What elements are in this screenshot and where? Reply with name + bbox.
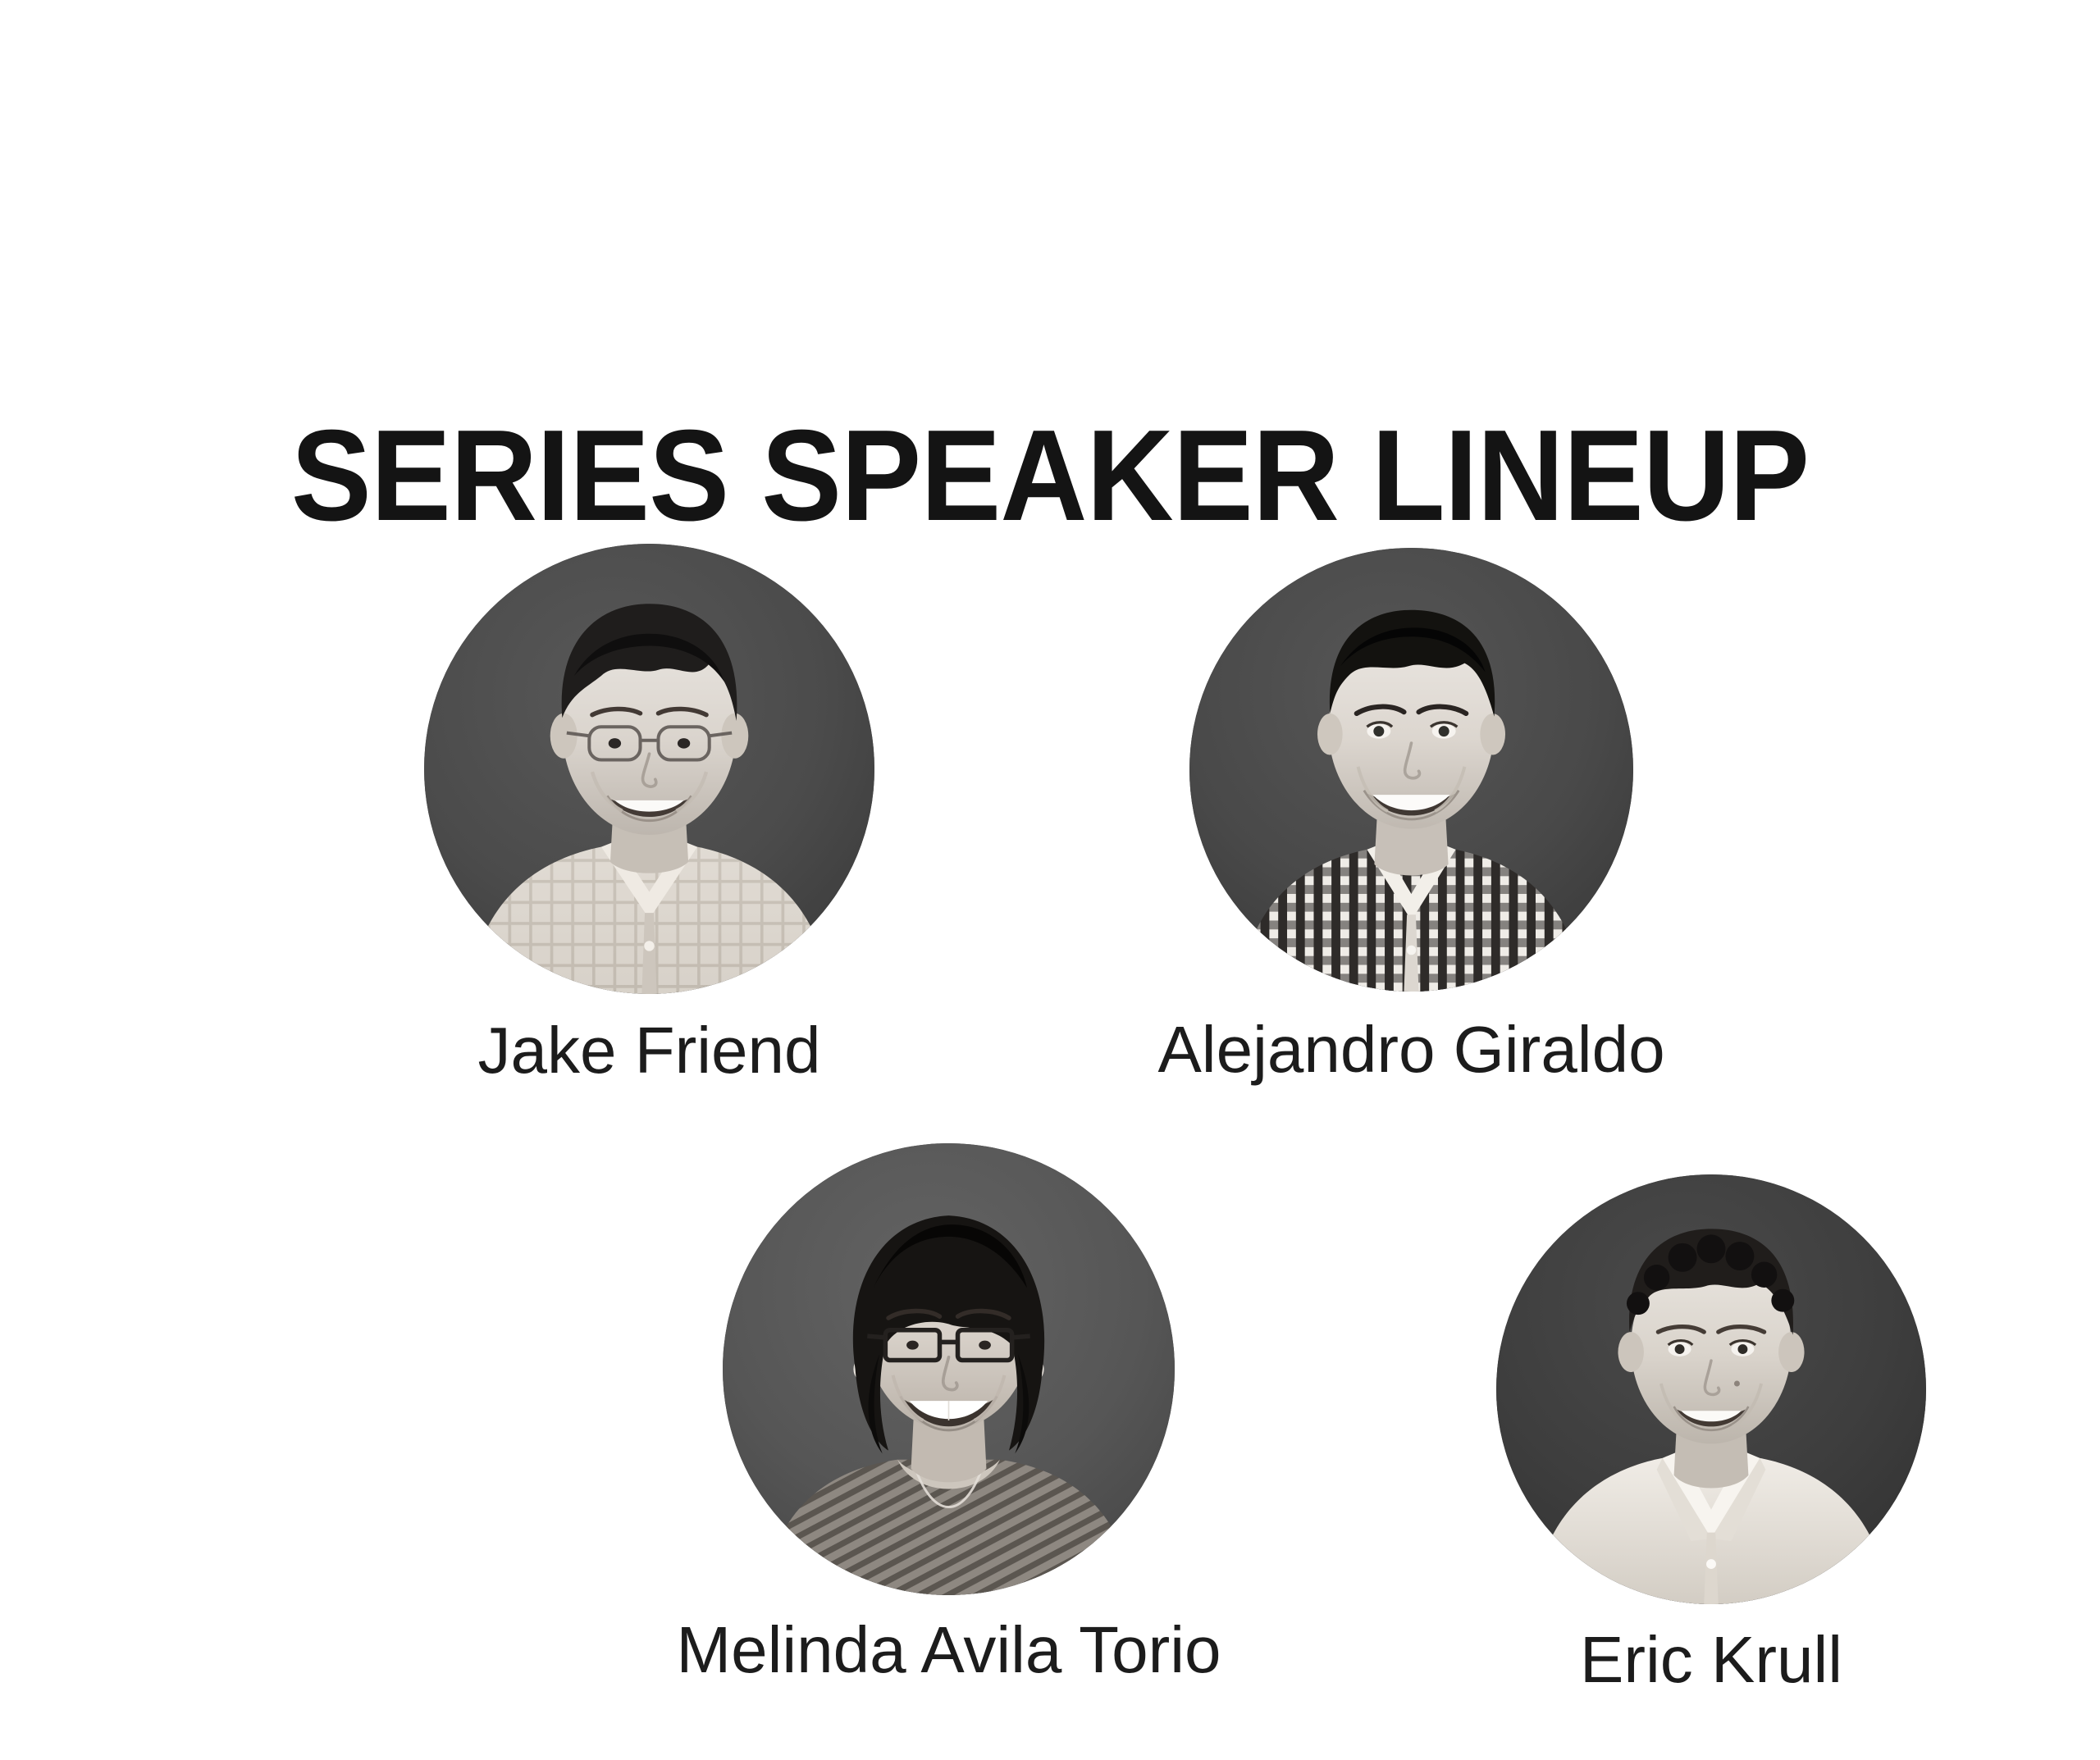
speaker-name: Melinda Avila Torio — [676, 1617, 1221, 1683]
avatar — [1189, 548, 1633, 992]
speaker-name: Alejandro Giraldo — [1157, 1017, 1664, 1083]
avatar — [723, 1143, 1175, 1595]
speaker-name: Eric Krull — [1580, 1627, 1842, 1693]
speaker-card: Alejandro Giraldo — [1189, 548, 1633, 992]
speaker-lineup-poster: SERIES SPEAKER LINEUP — [0, 0, 2100, 1760]
speaker-card: Eric Krull — [1496, 1174, 1926, 1604]
avatar — [1496, 1174, 1926, 1604]
speaker-card: Melinda Avila Torio — [723, 1143, 1175, 1595]
speaker-name: Jake Friend — [478, 1018, 821, 1083]
portrait-eric-krull-image — [1496, 1174, 1926, 1604]
portrait-alejandro-giraldo-image — [1189, 548, 1633, 992]
portrait-melinda-avila-torio-image — [723, 1143, 1175, 1595]
portrait-jake-friend-image — [424, 544, 874, 994]
page-title: SERIES SPEAKER LINEUP — [74, 411, 2027, 540]
avatar — [424, 544, 874, 994]
speaker-card: Jake Friend — [424, 544, 874, 994]
